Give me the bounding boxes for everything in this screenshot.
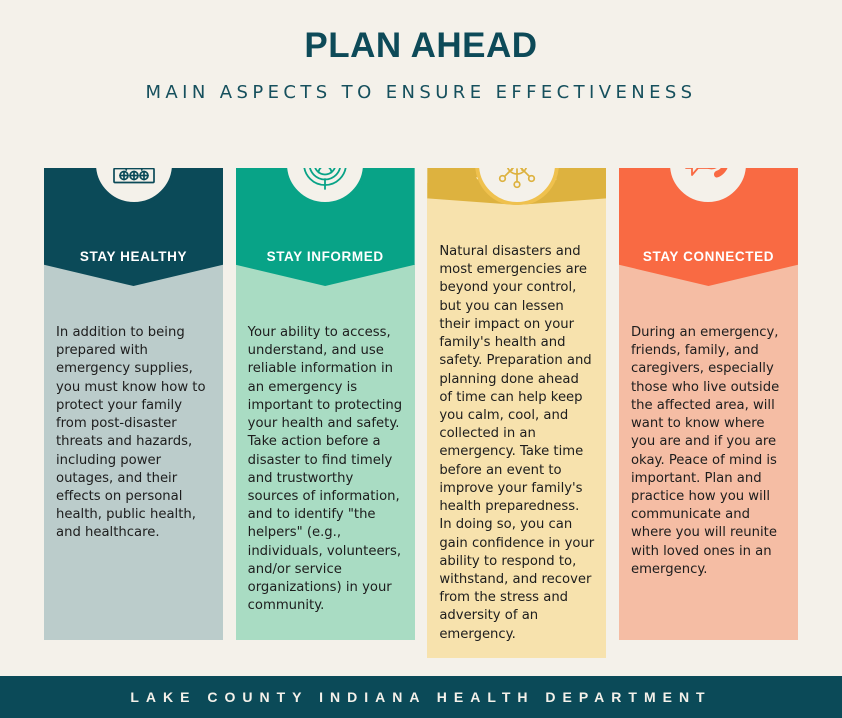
aspect-column-stay-calm: STAY CALM Natural disasters and most eme… bbox=[427, 168, 606, 640]
column-header-stay-calm: STAY CALM bbox=[427, 168, 606, 205]
footer-bar: LAKE COUNTY INDIANA HEALTH DEPARTMENT bbox=[0, 676, 842, 718]
page-title: PLAN AHEAD bbox=[0, 26, 842, 66]
aspect-column-stay-healthy: STAY HEALTHY In addition to being prepar… bbox=[44, 168, 223, 640]
aspect-column-stay-connected: STAY CONNECTED During an emergency, frie… bbox=[619, 168, 798, 640]
column-body-text: During an emergency, friends, family, an… bbox=[631, 324, 786, 579]
page-subtitle: MAIN ASPECTS TO ENSURE EFFECTIVENESS bbox=[0, 83, 842, 103]
column-body-stay-connected: During an emergency, friends, family, an… bbox=[619, 264, 798, 640]
page-header: PLAN AHEAD MAIN ASPECTS TO ENSURE EFFECT… bbox=[0, 0, 842, 103]
column-header-stay-connected: STAY CONNECTED bbox=[619, 168, 798, 286]
column-label: STAY INFORMED bbox=[267, 249, 384, 264]
chat-at-phone-icon bbox=[666, 122, 750, 206]
column-body-text: In addition to being prepared with emerg… bbox=[56, 324, 211, 543]
aspect-columns: STAY HEALTHY In addition to being prepar… bbox=[44, 168, 798, 640]
column-body-stay-informed: Your ability to access, understand, and … bbox=[236, 264, 415, 640]
aspect-column-stay-informed: STAY INFORMED Your ability to access, un… bbox=[236, 168, 415, 640]
column-label: STAY CONNECTED bbox=[643, 249, 774, 264]
footer-organization-name: LAKE COUNTY INDIANA HEALTH DEPARTMENT bbox=[130, 689, 711, 705]
column-body-stay-calm: Natural disasters and most emergencies a… bbox=[427, 183, 606, 658]
column-header-stay-healthy: STAY HEALTHY bbox=[44, 168, 223, 286]
column-body-text: Natural disasters and most emergencies a… bbox=[439, 243, 594, 644]
column-body-text: Your ability to access, understand, and … bbox=[248, 324, 403, 616]
family-group-icon bbox=[92, 122, 176, 206]
column-header-stay-informed: STAY INFORMED bbox=[236, 168, 415, 286]
target-person-icon bbox=[283, 122, 367, 206]
column-label: STAY HEALTHY bbox=[80, 249, 187, 264]
network-hub-person-icon bbox=[475, 122, 559, 206]
column-body-stay-healthy: In addition to being prepared with emerg… bbox=[44, 264, 223, 640]
